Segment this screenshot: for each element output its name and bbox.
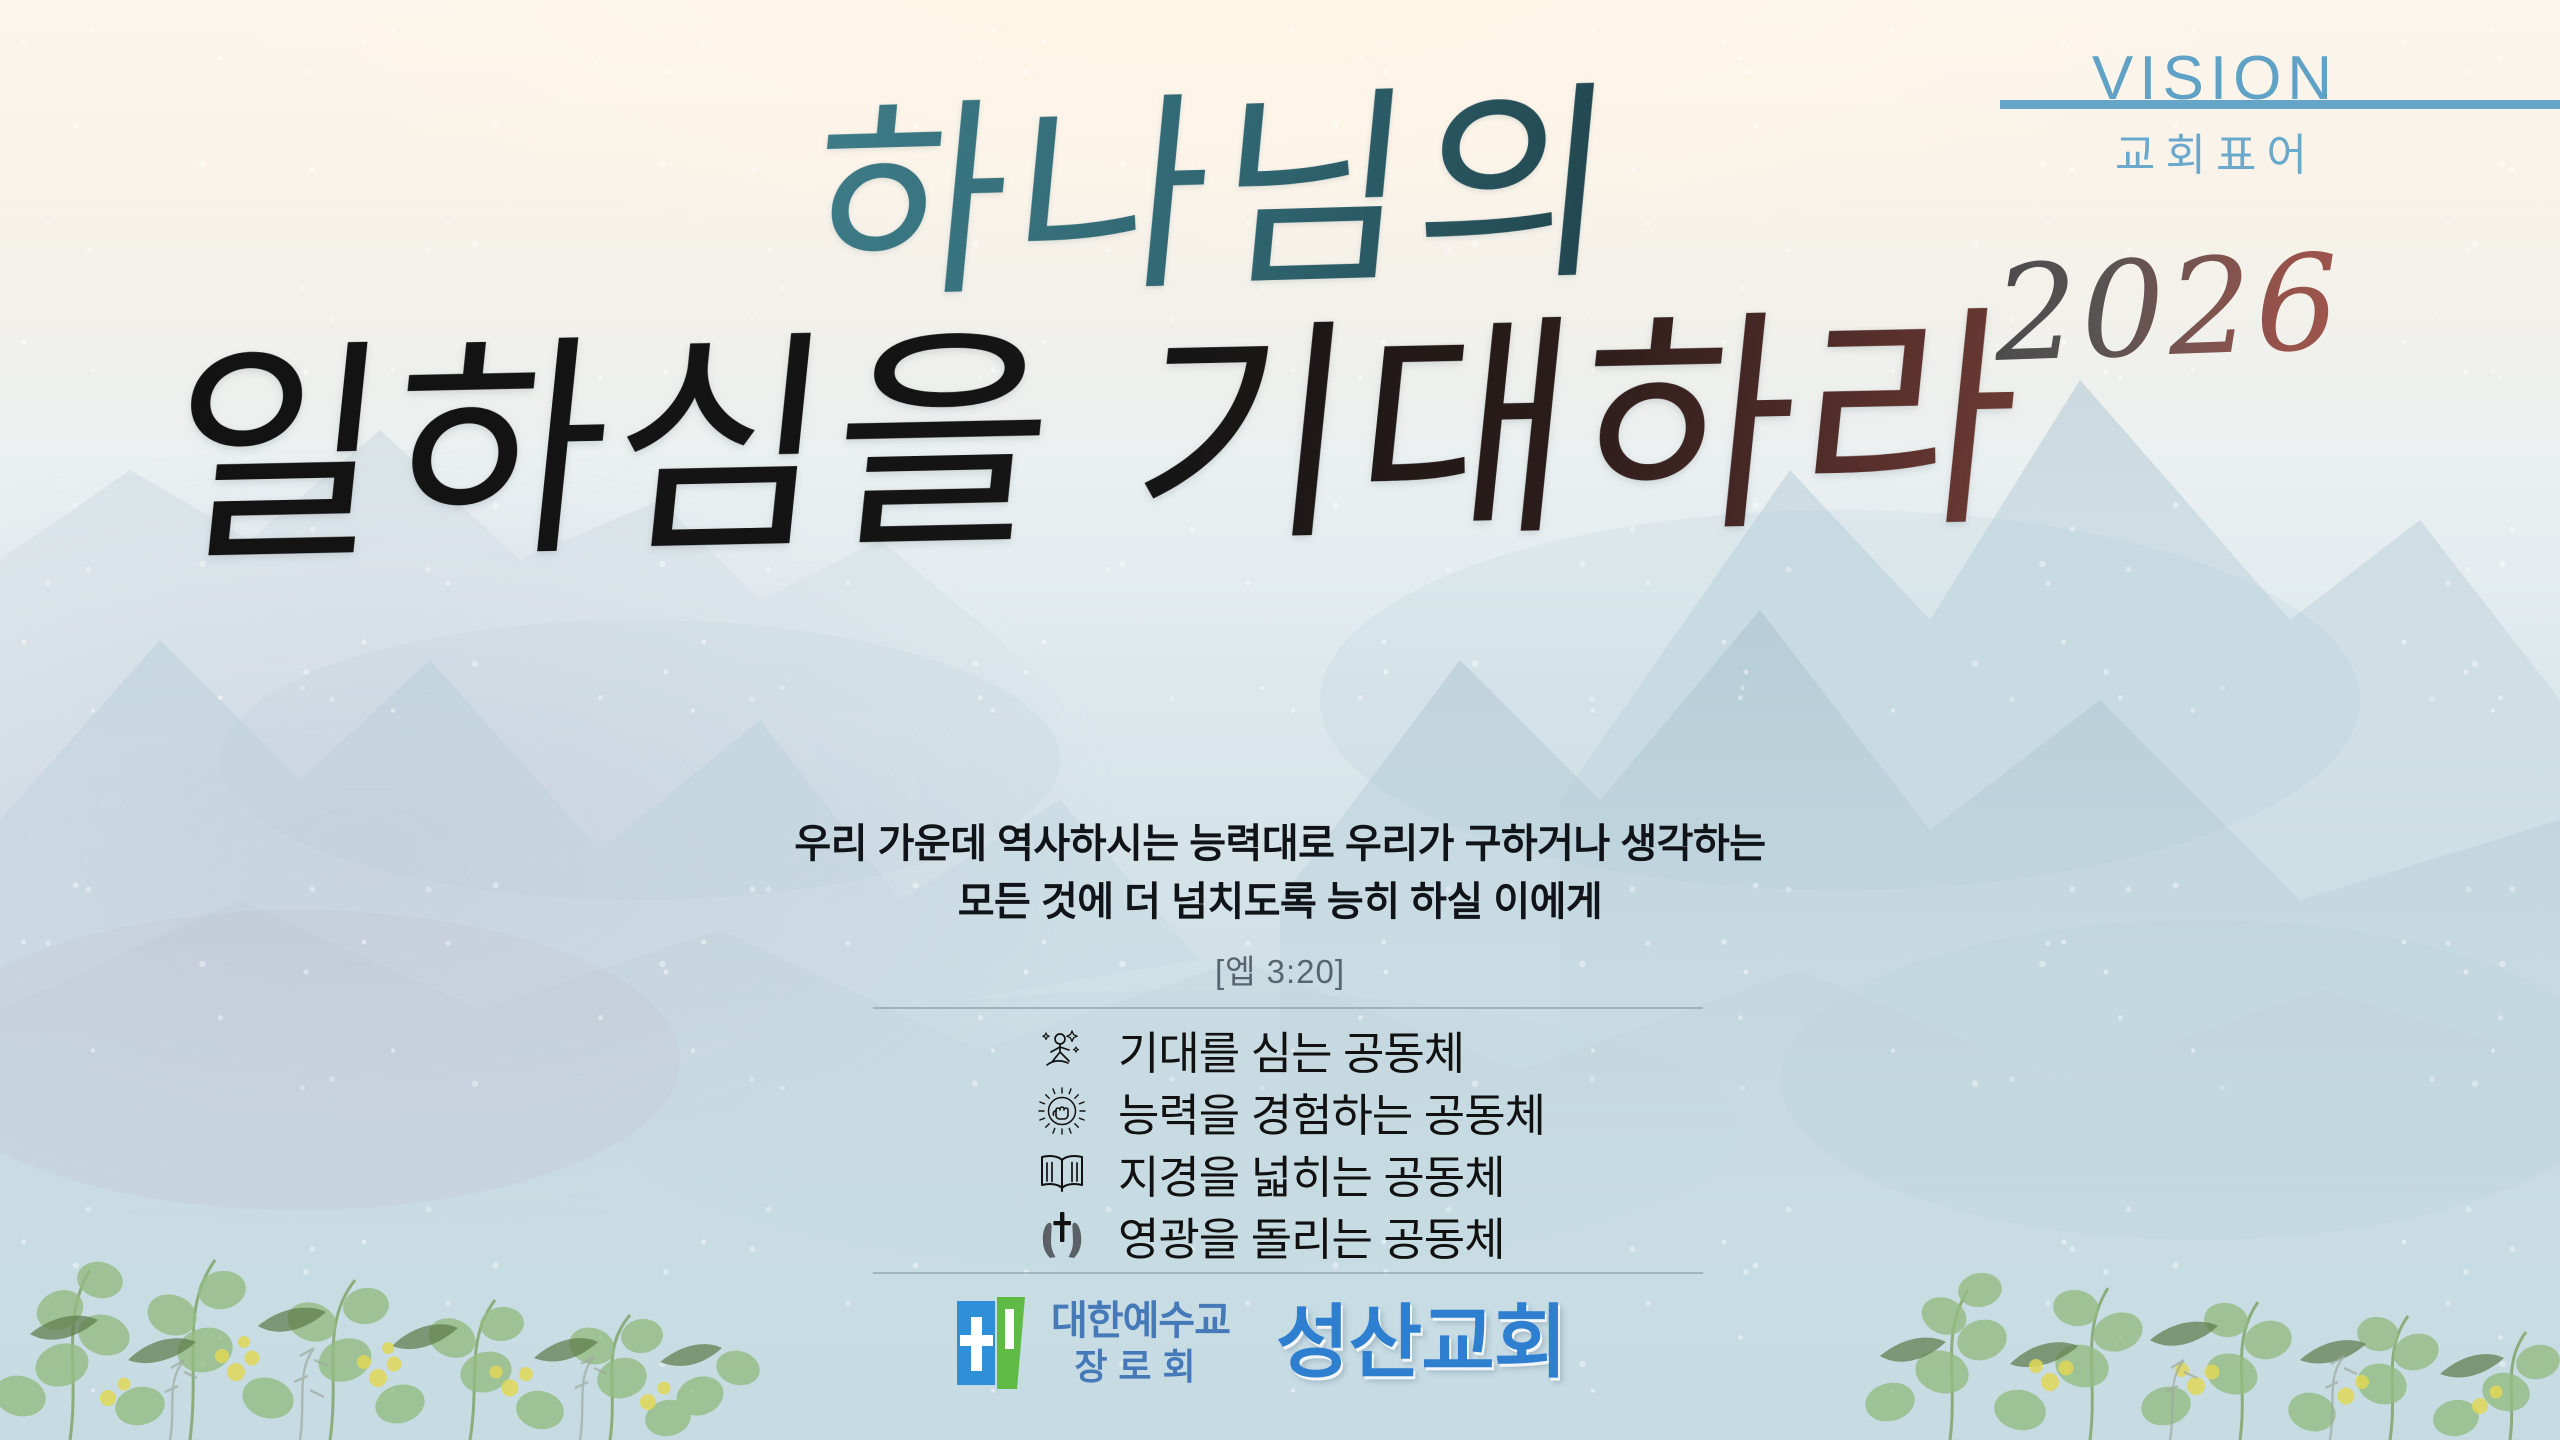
- denomination-name: 대한예수교 장로회: [1051, 1295, 1230, 1391]
- church-logo: 대한예수교 장로회 성산교회: [955, 1295, 1566, 1391]
- divider-bottom: [873, 1272, 1703, 1274]
- value-row: 능력을 경험하는 공동체: [1030, 1080, 1545, 1142]
- verse-line-2: 모든 것에 더 넘치도록 능히 하실 이에게: [0, 873, 2560, 931]
- verse-text: 우리 가운데 역사하시는 능력대로 우리가 구하거나 생각하는 모든 것에 더 …: [0, 815, 2560, 931]
- value-label: 기대를 심는 공동체: [1118, 1017, 1464, 1082]
- presbyterian-cross-mark-icon: [955, 1295, 1033, 1391]
- title-line-2: 일하심을 기대하라: [0, 299, 2245, 582]
- value-label: 능력을 경험하는 공동체: [1118, 1079, 1545, 1144]
- main-title: 하나님의 일하심을 기대하라: [0, 92, 2230, 558]
- praying-hands-cross-icon: [1030, 1210, 1094, 1260]
- denomination-line-2: 장로회: [1051, 1348, 1230, 1386]
- year-label: 2026: [1991, 226, 2344, 392]
- value-row: 기대를 심는 공동체: [1030, 1018, 1545, 1080]
- verse-line-1: 우리 가운데 역사하시는 능력대로 우리가 구하거나 생각하는: [0, 815, 2560, 873]
- vision-values-list: 기대를 심는 공동체 능력을 경험하는 공동체: [1030, 1018, 1545, 1266]
- value-row: 영광을 돌리는 공동체: [1030, 1204, 1545, 1266]
- church-name: 성산교회: [1276, 1303, 1566, 1383]
- fist-rays-icon: [1030, 1086, 1094, 1136]
- verse-reference: [엡 3:20]: [0, 945, 2560, 993]
- value-label: 지경을 넓히는 공동체: [1118, 1141, 1505, 1206]
- divider-top: [873, 1007, 1703, 1009]
- vision-banner: VISION 교회표어 하나님의 일하심을 기대하라 2026 우리 가운데 역…: [0, 0, 2560, 1440]
- person-sparkle-icon: [1030, 1025, 1094, 1073]
- open-book-icon: [1030, 1151, 1094, 1195]
- value-row: 지경을 넓히는 공동체: [1030, 1142, 1545, 1204]
- denomination-line-1: 대한예수교: [1051, 1300, 1230, 1342]
- value-label: 영광을 돌리는 공동체: [1118, 1203, 1505, 1268]
